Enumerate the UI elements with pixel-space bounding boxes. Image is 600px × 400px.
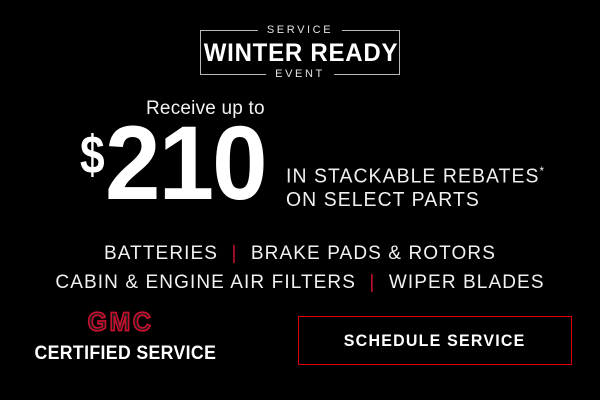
price-block: $ 210 [80,120,274,208]
parts-line-1: BATTERIES | BRAKE PADS & ROTORS [0,240,600,269]
gmc-logo-wrap: GMC [28,310,213,335]
part-item-batteries: BATTERIES [104,243,218,264]
rebate-amount: 210 [105,120,266,208]
event-badge: SERVICE WINTER READY EVENT [200,30,400,75]
parts-line-2: CABIN & ENGINE AIR FILTERS | WIPER BLADE… [0,269,600,298]
footnote-marker: * [539,164,544,178]
part-item-wiper-blades: WIPER BLADES [389,272,545,293]
schedule-service-label: SCHEDULE SERVICE [344,331,526,351]
part-item-air-filters: CABIN & ENGINE AIR FILTERS [55,272,356,293]
parts-separator: | [362,272,382,293]
rebate-line-2: ON SELECT PARTS [286,189,544,213]
part-item-brake-pads-rotors: BRAKE PADS & ROTORS [251,243,496,264]
schedule-service-button[interactable]: SCHEDULE SERVICE [298,316,572,365]
rebate-line-1-text: IN STACKABLE REBATES [286,166,539,188]
currency-symbol: $ [80,128,104,182]
badge-bottom-label: EVENT [266,69,334,80]
parts-separator: | [224,243,244,264]
certified-service-tagline: CERTIFIED SERVICE [34,344,206,363]
rebate-line-1: IN STACKABLE REBATES* [286,164,544,189]
gmc-brand-lockup: GMC CERTIFIED SERVICE [28,310,213,363]
winter-ready-service-ad: SERVICE WINTER READY EVENT Receive up to… [0,0,600,400]
rebate-description: IN STACKABLE REBATES* ON SELECT PARTS [286,164,552,213]
gmc-logo: GMC [88,309,154,335]
eligible-parts-list: BATTERIES | BRAKE PADS & ROTORS CABIN & … [0,240,600,297]
